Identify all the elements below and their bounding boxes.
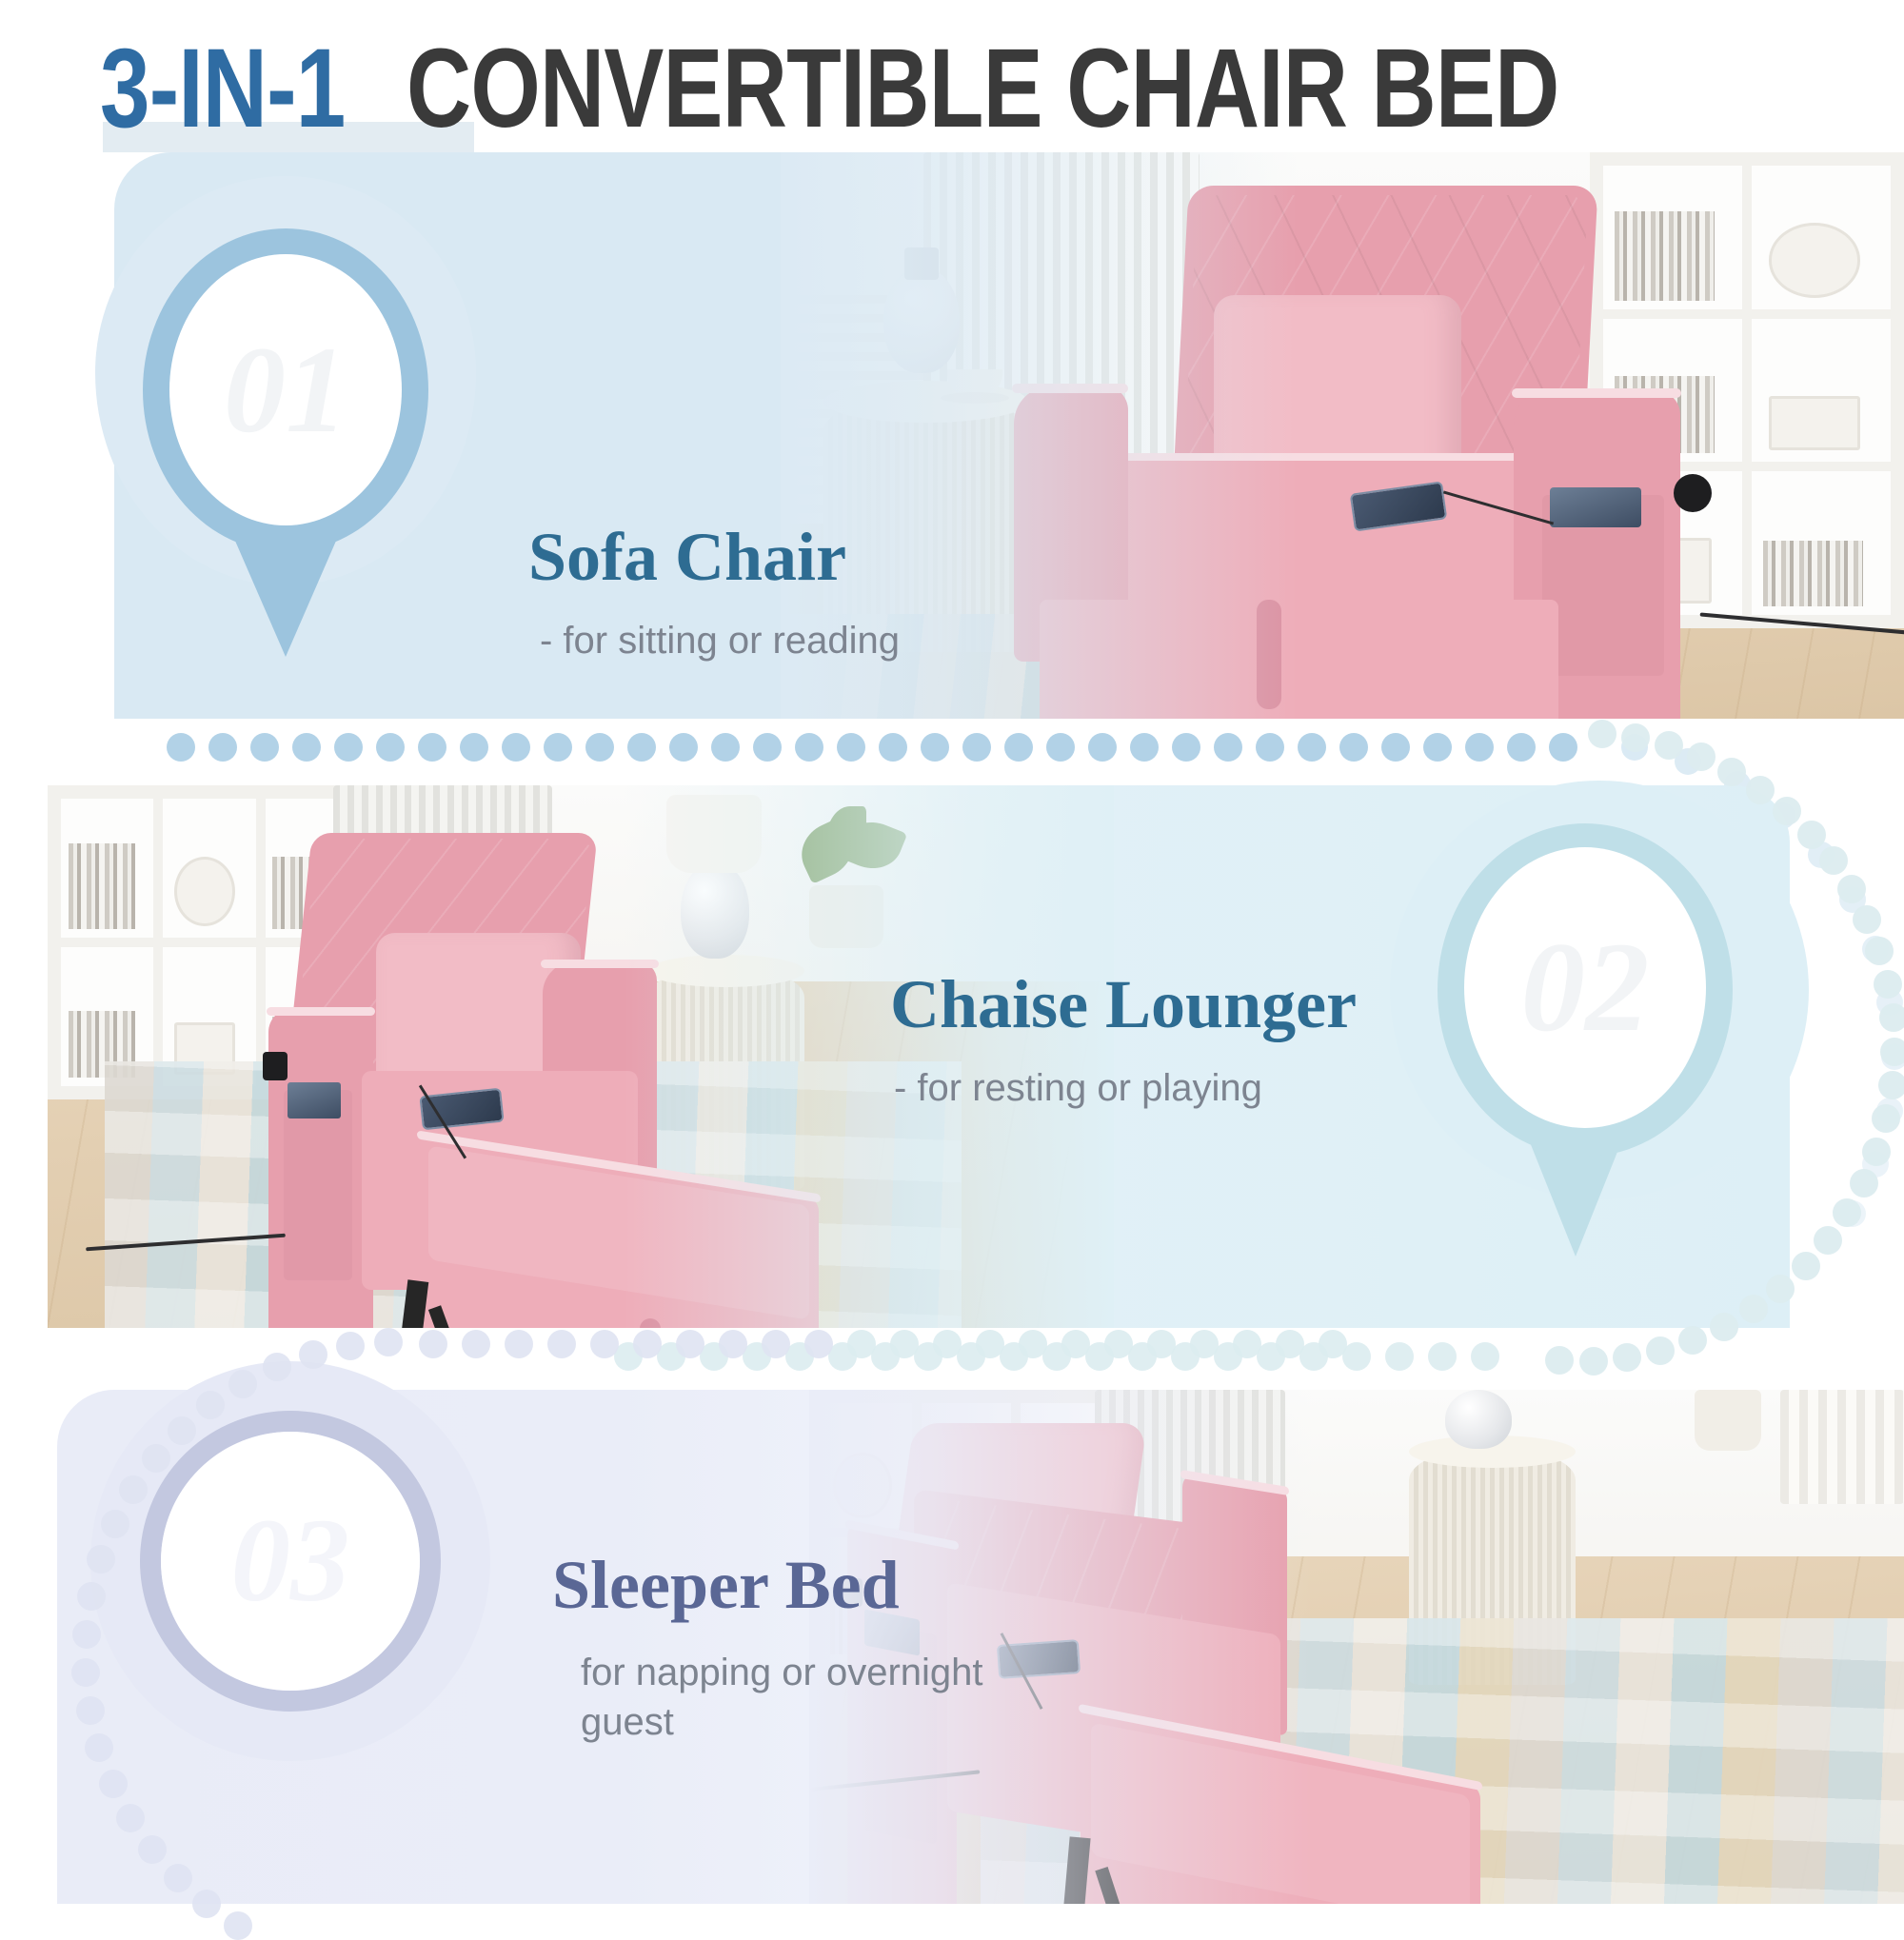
connector-dot [72,1620,101,1649]
connector-dot [192,1890,221,1918]
connector-dot [87,1545,115,1574]
connector-dot [890,1330,919,1358]
connector-dot [77,1582,106,1611]
connector-dot [1233,1330,1261,1358]
connector-dot [1319,1330,1347,1358]
connector-dots-3 [0,0,1904,1904]
connector-dot [1190,1330,1219,1358]
connector-dot [224,1911,252,1940]
connector-dot [101,1510,129,1538]
connector-dot [336,1332,365,1360]
title-accent-text: 3-IN-1 [100,17,345,160]
connector-dot [196,1391,225,1419]
connector-dot [299,1340,327,1369]
connector-dot [374,1328,403,1356]
connector-dot [804,1330,833,1358]
connector-dot [1276,1330,1304,1358]
connector-dot [1147,1330,1176,1358]
connector-dot [116,1804,145,1832]
connector-dot [762,1330,790,1358]
connector-dot [138,1835,167,1864]
connector-dot [1061,1330,1090,1358]
connector-dot [1019,1330,1047,1358]
connector-dot [263,1353,291,1381]
connector-dot [419,1330,447,1358]
connector-dot [976,1330,1004,1358]
connector-dot [505,1330,533,1358]
connector-dot [933,1330,962,1358]
connector-dot [633,1330,662,1358]
connector-dot [462,1330,490,1358]
connector-dot [168,1416,196,1445]
connector-dot [847,1330,876,1358]
connector-dot [164,1864,192,1892]
connector-dot [719,1330,747,1358]
connector-dot [142,1444,170,1473]
connector-dot [71,1658,100,1687]
title-rest-text: CONVERTIBLE CHAIR BED [407,17,1558,160]
connector-dot [228,1370,257,1398]
connector-dot [85,1733,113,1762]
connector-dot [119,1475,148,1504]
connector-dot [99,1770,128,1798]
connector-dot [676,1330,704,1358]
connector-dot [590,1330,619,1358]
connector-dot [1104,1330,1133,1358]
connector-dot [547,1330,576,1358]
connector-dot [76,1696,105,1725]
